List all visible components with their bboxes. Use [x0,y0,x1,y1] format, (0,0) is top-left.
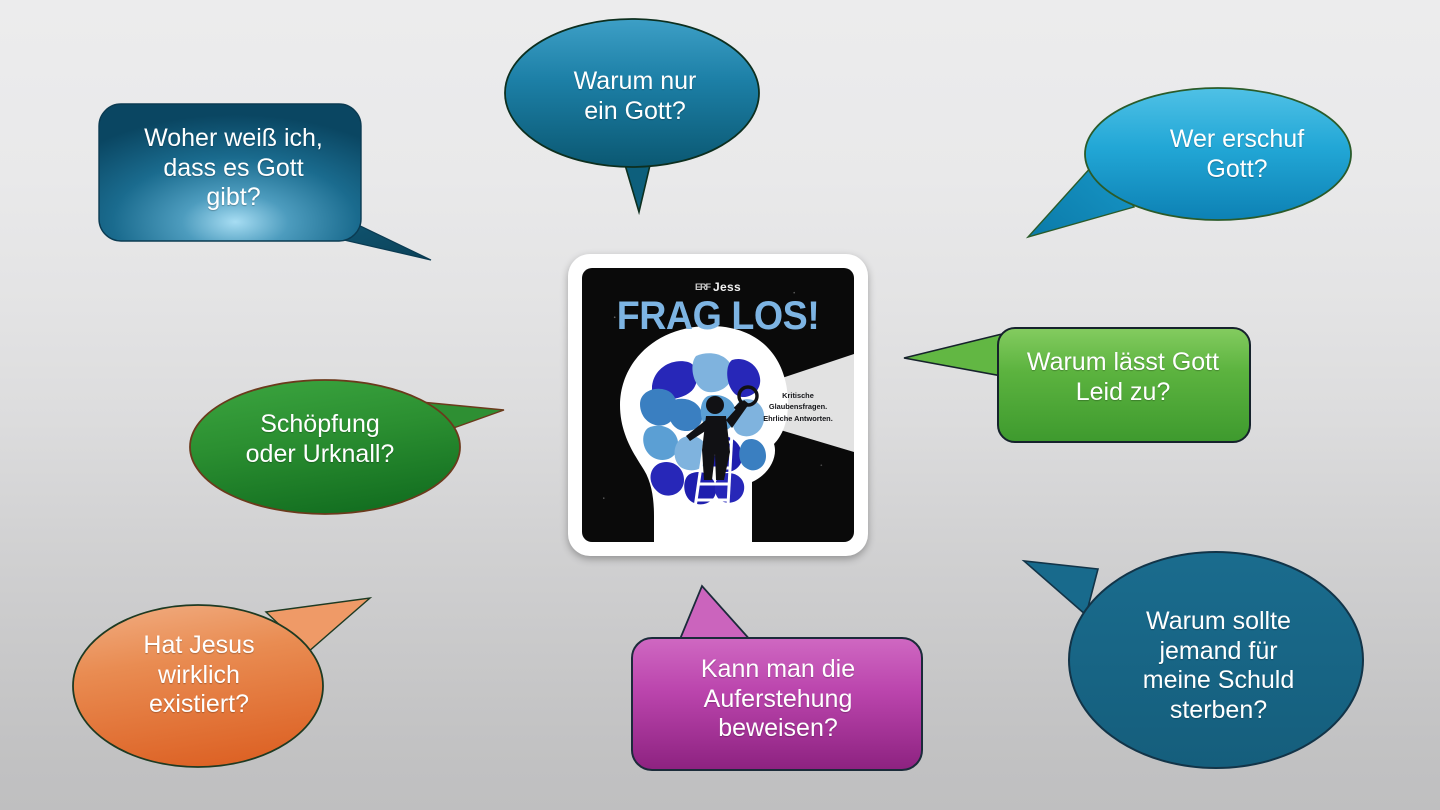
cover-brand-line: ERFJess [582,280,854,294]
speech-bubble-shape [96,100,441,270]
speech-bubble-warum-sollte-jemand-sterben[interactable]: Warum sollte jemand für meine Schuld ste… [1020,545,1365,770]
speech-bubble-wer-erschuf-gott[interactable]: Wer erschuf Gott? [1022,82,1372,252]
speech-bubble-shape [1020,545,1368,773]
cover-brand-name: Jess [713,280,741,294]
speech-bubble-schoepfung-oder-urknall[interactable]: Schöpfung oder Urknall? [188,376,508,516]
speech-bubble-shape [1022,82,1374,257]
speech-bubble-shape [70,586,378,782]
speech-bubble-shape [898,322,1256,450]
speech-bubble-shape [188,376,510,521]
podcast-cover-frame[interactable]: ERFJess FRAG LOS! Kritische Glaubensfrag… [568,254,868,556]
speech-bubble-shape [502,16,774,224]
speech-bubble-shape [630,584,928,776]
cover-title: FRAG LOS! [590,294,846,339]
speech-bubble-warum-nur-ein-gott[interactable]: Warum nur ein Gott? [502,16,772,221]
speech-bubble-warum-laesst-gott-leid-zu[interactable]: Warum lässt Gott Leid zu? [898,322,1254,447]
speech-bubble-woher-weiss-ich[interactable]: Woher weiß ich, dass es Gott gibt? [96,100,441,265]
speech-bubble-hat-jesus-wirklich-existiert[interactable]: Hat Jesus wirklich existiert? [70,586,375,778]
podcast-cover-art: ERFJess FRAG LOS! Kritische Glaubensfrag… [582,268,854,542]
cover-subtitle: Kritische Glaubensfragen. Ehrliche Antwo… [750,390,846,424]
speech-bubble-kann-man-die-auferstehung-beweisen[interactable]: Kann man die Auferstehung beweisen? [630,584,926,772]
slide-canvas: Woher weiß ich, dass es Gott gibt? Warum… [0,0,1440,810]
erf-logo-mark: ERF [695,282,710,292]
